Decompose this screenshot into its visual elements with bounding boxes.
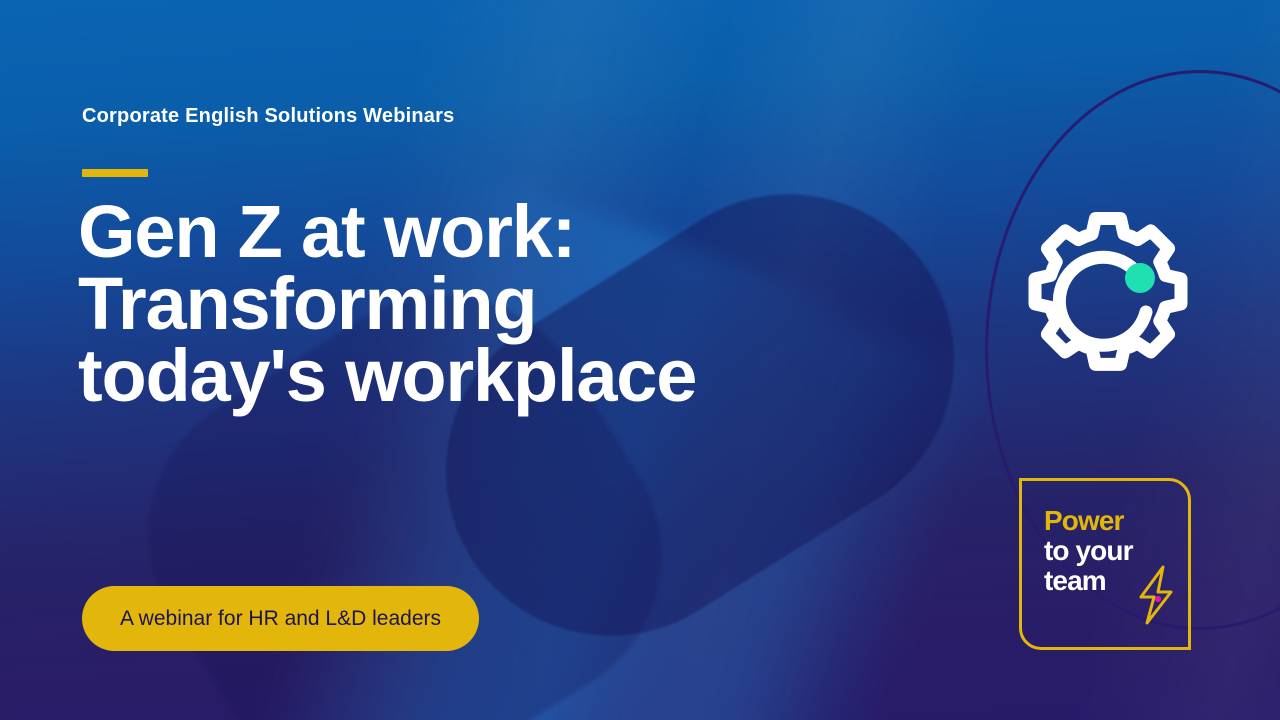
teal-dot-icon [1125,263,1155,293]
page-title: Gen Z at work: Transforming today's work… [78,196,778,411]
power-to-your-team-logo: Power to your team [1019,478,1191,650]
logo-line-power: Power [1044,507,1194,535]
logo-line-to-your: to your [1044,537,1194,565]
lightning-bolt-icon [1132,564,1180,626]
gold-accent-rule [82,169,148,177]
magenta-dot-icon [1155,596,1161,602]
slide-content: Corporate English Solutions Webinars Gen… [82,0,782,720]
webinar-promo-slide: Corporate English Solutions Webinars Gen… [0,0,1280,720]
eyebrow-text: Corporate English Solutions Webinars [82,105,454,128]
gear-icon [1000,190,1216,406]
audience-badge: A webinar for HR and L&D leaders [82,586,479,651]
